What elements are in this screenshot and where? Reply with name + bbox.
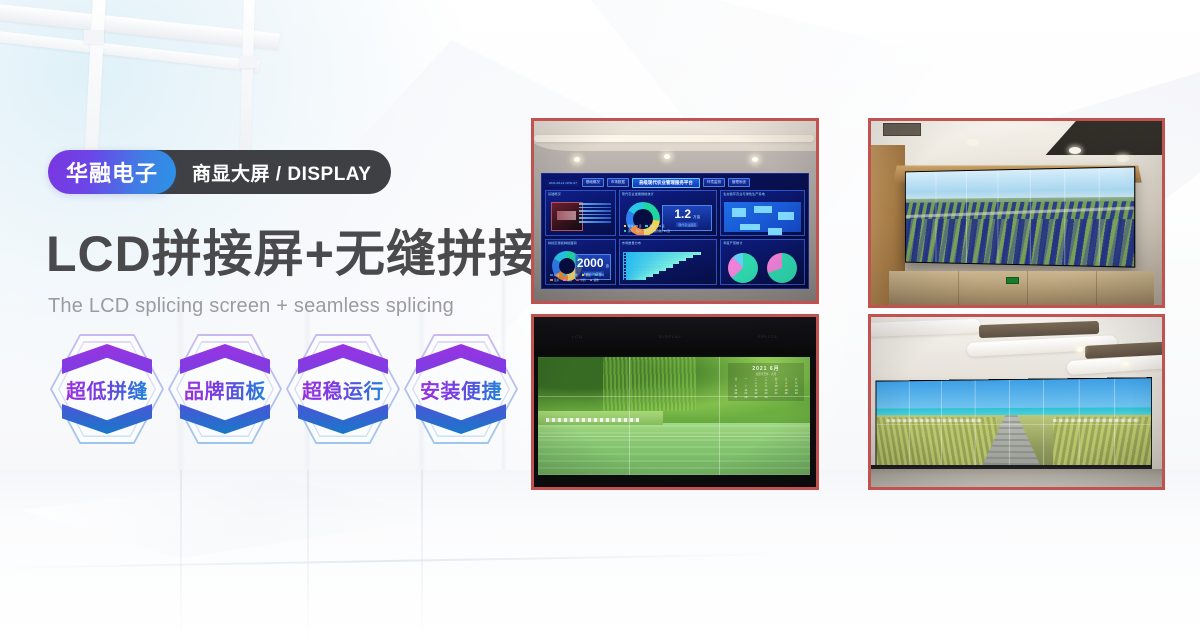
calendar-grid: 日 一 二 三 四 五 六 1 2 [731, 377, 801, 399]
exhibition-room: 2021-06-12 10:51:27 基础概况 市场数据 县级现代农业管理服务… [534, 121, 816, 301]
feature-hexagon-1: 超低拼缝 [48, 330, 166, 448]
downlight [967, 139, 979, 146]
video-wall-screen [905, 166, 1135, 267]
product-photo-bottom-right[interactable] [868, 314, 1165, 490]
screen-bezel-top: LCD DISPLAY SPLICE [534, 317, 816, 355]
feature-label: 安装便捷 [420, 375, 502, 404]
railing [546, 418, 638, 422]
willow-branches [603, 357, 695, 411]
dashboard-tab: 环境监测 [703, 178, 725, 187]
sky [876, 378, 1151, 410]
card-title: 市场数量分布 [622, 241, 641, 245]
dashboard-row-bottom: 种植区规模种植面积 2000 亩 种植基地面积 [545, 239, 805, 285]
calendar-weekday: 二 [751, 377, 761, 381]
panel-seam [719, 357, 720, 475]
card-title: 基础概况 [548, 192, 561, 196]
dashboard-tab: 管理系统 [728, 178, 750, 187]
legend-entry: 果蔬 / 120 亩 [645, 224, 664, 228]
feature-hexagon-2: 品牌面板 [166, 330, 284, 448]
photo-image-solar-farm-wall [871, 121, 1162, 305]
bezel-label: LCD [572, 334, 583, 339]
downlight [1069, 147, 1081, 154]
panel-seam [1030, 170, 1031, 265]
legend-entry: 其他 [590, 278, 599, 282]
water-surface [538, 425, 810, 475]
downlight [1077, 347, 1083, 352]
kpi-unit: 万亩 [693, 215, 700, 220]
legend-entry: 粮油 [550, 273, 559, 277]
lobby-floor [871, 469, 1162, 487]
dashboard-timestamp: 2021-06-12 10:51:27 [547, 180, 579, 186]
banner-text-column: 华融电子 商显大屏 / DISPLAY LCD拼接屏+无缝拼接 The LCD … [0, 0, 540, 640]
cove-light [534, 135, 814, 142]
calendar-day: 26 [791, 392, 801, 395]
kpi-value: 1.2 [674, 208, 691, 220]
bezel-label: SPLICE [758, 334, 778, 339]
dashboard-video-wall: 2021-06-12 10:51:27 基础概况 市场数据 县级现代农业管理服务… [541, 173, 809, 289]
card-text-lines [579, 203, 611, 225]
calendar-overlay: 2021 6月 农历辛丑年 · 六月 日 一 二 三 四 五 六 [728, 363, 804, 401]
chart-legend: 粮油 / 85 亩 果蔬 / 120 亩 茶叶、花卉、苗木等经济作物 / 65 … [624, 224, 712, 233]
calendar-weekday: 一 [741, 377, 751, 381]
panel-seam [966, 171, 967, 263]
product-photo-grid: 2021-06-12 10:51:27 基础概况 市场数据 县级现代农业管理服务… [531, 118, 1165, 490]
calendar-weekday: 四 [771, 377, 781, 381]
solar-panel-field-foreground [906, 219, 1134, 267]
legend-entry: 果蔬 [582, 273, 591, 277]
panel-seam [1064, 169, 1065, 265]
wood-paneled-room [871, 121, 1162, 305]
feature-hexagon-4: 安装便捷 [402, 330, 520, 448]
kpi-unit: 亩 [606, 264, 610, 269]
sky [906, 167, 1134, 201]
product-photo-bottom-left[interactable]: LCD DISPLAY SPLICE 2021 6月 [531, 314, 819, 490]
legend-entry: 中药 [576, 278, 585, 282]
feature-label: 品牌面板 [184, 375, 266, 404]
pie-chart-group [724, 254, 801, 281]
dashboard-card-scale: 现代农业发展规模统计 1.2 万亩 现代农业园区 [619, 190, 717, 236]
brand-badge: 华融电子 [48, 150, 176, 194]
dashboard-title: 县级现代农业管理服务平台 [632, 178, 700, 188]
calendar-weekday: 三 [761, 377, 771, 381]
badge-row: 华融电子 商显大屏 / DISPLAY [48, 150, 391, 194]
legend-entry: 粮油 / 85 亩 [624, 224, 642, 228]
ceiling-vent [883, 123, 921, 136]
video-wall-screen: 2021 6月 农历辛丑年 · 六月 日 一 二 三 四 五 六 [538, 357, 810, 475]
downlight [1123, 361, 1129, 366]
exit-sign-icon [1006, 277, 1019, 284]
calendar-weekday: 五 [781, 377, 791, 381]
rope-railing-left [887, 419, 982, 422]
pie-chart [767, 253, 797, 283]
solar-farm-image [906, 167, 1134, 266]
ceiling-spotlight [664, 154, 670, 159]
panel-seam [1098, 168, 1099, 266]
downlight [1117, 155, 1129, 162]
bar-chart [623, 251, 713, 281]
photo-image-dashboard-wall: 2021-06-12 10:51:27 基础概况 市场数据 县级现代农业管理服务… [534, 121, 816, 301]
panel-seam [629, 357, 630, 475]
dashboard-row-top: 基础概况 现代农业发展规模统计 [545, 190, 805, 236]
page-title: LCD拼接屏+无缝拼接 [46, 228, 539, 281]
card-title: 现代农业发展规模统计 [622, 192, 654, 196]
cabinet-seam [1096, 271, 1097, 305]
beach-boardwalk-image [876, 378, 1151, 470]
dashboard-card-output: 年度产值统计 [720, 239, 805, 285]
pond-landscape-image: 2021 6月 农历辛丑年 · 六月 日 一 二 三 四 五 六 [538, 357, 810, 475]
wall-cabinet [889, 271, 1154, 305]
calendar-title: 2021 6月 [731, 365, 801, 372]
card-title: 年度产值统计 [723, 241, 742, 245]
kpi-value: 2000 [577, 257, 604, 269]
card-title: 种植区规模种植面积 [548, 241, 577, 245]
feature-label: 超低拼缝 [66, 375, 148, 404]
card-title: 生态循环农业与绿色生产基地 [723, 192, 765, 196]
calendar-weekday: 六 [791, 377, 801, 381]
calendar-weekday: 日 [731, 377, 741, 381]
page-subtitle: The LCD splicing screen + seamless splic… [48, 295, 454, 318]
dashboard-card-planting: 种植区规模种植面积 2000 亩 种植基地面积 [545, 239, 616, 285]
bezel-label: DISPLAY [659, 334, 683, 339]
legend-entry: 茶叶 [595, 273, 604, 277]
dark-room: LCD DISPLAY SPLICE 2021 6月 [534, 317, 816, 487]
ceiling-spotlight [574, 157, 580, 162]
dashboard-tab: 基础概况 [582, 178, 604, 187]
video-wall-screen [876, 377, 1153, 471]
dashboard-topbar: 2021-06-12 10:51:27 基础概况 市场数据 县级现代农业管理服务… [545, 177, 805, 188]
calendar-day: 24 [771, 392, 781, 395]
feature-hexagon-3: 超稳运行 [284, 330, 402, 448]
rope-railing-right [1053, 419, 1139, 422]
legend-entry: 经济作物 [563, 273, 577, 277]
ceiling-spotlight [752, 157, 758, 162]
dashboard-card-flow: 生态循环农业与绿色生产基地 [720, 190, 805, 236]
legend-entry: 苗木 [550, 278, 559, 282]
flow-diagram [724, 202, 801, 232]
legend-entry: 茶叶、花卉、苗木等经济作物 / 65 亩 [624, 229, 670, 233]
ceiling [534, 121, 816, 151]
dashboard-card-overview: 基础概况 [545, 190, 616, 236]
feature-label: 超稳运行 [302, 375, 384, 404]
product-photo-top-left[interactable]: 2021-06-12 10:51:27 基础概况 市场数据 县级现代农业管理服务… [531, 118, 819, 304]
panel-seam-horizontal [538, 436, 810, 437]
photo-image-beach-wall [871, 317, 1162, 487]
calendar-day: 25 [781, 392, 791, 395]
chart-legend: 粮油 经济作物 果蔬 茶叶 苗木 花卉 中药 其他 [550, 273, 611, 282]
cabinet-seam [1027, 271, 1028, 305]
legend-entry: 花卉 [563, 278, 572, 282]
calendar-subtitle: 农历辛丑年 · 六月 [731, 372, 801, 376]
promo-banner: 华融电子 商显大屏 / DISPLAY LCD拼接屏+无缝拼接 The LCD … [0, 0, 1200, 640]
product-photo-top-right[interactable] [868, 118, 1165, 308]
category-badge: 商显大屏 / DISPLAY [154, 150, 391, 194]
photo-image-pond-wall: LCD DISPLAY SPLICE 2021 6月 [534, 317, 816, 487]
panel-seam-horizontal [876, 424, 1151, 425]
panel-seam [935, 172, 936, 263]
dashboard-tab: 市场数据 [607, 178, 629, 187]
pie-chart [728, 253, 758, 283]
cabinet-seam [958, 271, 959, 305]
dashboard-card-market: 市场数量分布 [619, 239, 717, 285]
dashboard-body: 基础概况 现代农业发展规模统计 [545, 190, 805, 285]
panel-seam-horizontal [538, 396, 810, 397]
feature-hexagon-row: 超低拼缝 品牌面板 超稳运行 安装便捷 [48, 330, 520, 448]
card-thumbnail [551, 202, 583, 231]
lobby-room [871, 317, 1162, 487]
panel-seam [998, 170, 999, 263]
